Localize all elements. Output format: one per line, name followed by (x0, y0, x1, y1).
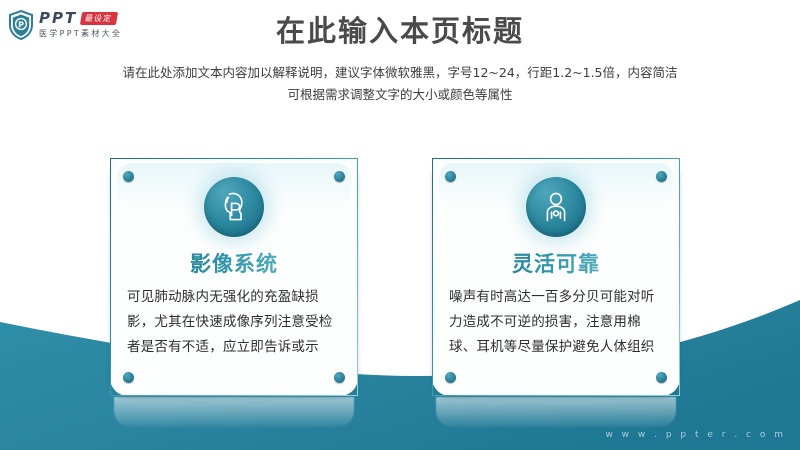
slide-canvas: P PPT 最设定 医学PPT素材大全 在此输入本页标题 请在此处添加文本内容加… (0, 0, 800, 450)
corner-dot-top-right (334, 171, 345, 182)
subtitle-line-2: 可根据需求调整文字的大小或颜色等属性 (0, 84, 800, 106)
content-card-1[interactable]: 影像系统 可见肺动脉内无强化的充盈缺损影，尤其在快速成像序列注意受检者是否有不适… (110, 158, 358, 396)
page-title: 在此输入本页标题 (0, 14, 800, 48)
site-watermark: w w w . p p t e r . c o m (605, 430, 786, 440)
corner-dot-bottom-right (334, 372, 345, 383)
person-organ-icon (526, 177, 586, 237)
card-reflection-left (114, 397, 354, 427)
corner-dot-bottom-right (656, 372, 667, 383)
card-title: 灵活可靠 (433, 251, 679, 277)
corner-dot-top-right (656, 171, 667, 182)
page-subtitle: 请在此处添加文本内容加以解释说明，建议字体微软雅黑，字号12~24，行距1.2~… (0, 62, 800, 106)
subtitle-line-1: 请在此处添加文本内容加以解释说明，建议字体微软雅黑，字号12~24，行距1.2~… (0, 62, 800, 84)
card-reflection-right (436, 397, 676, 427)
corner-dot-bottom-left (445, 372, 456, 383)
corner-dot-top-left (445, 171, 456, 182)
corner-dot-top-left (123, 171, 134, 182)
content-card-2[interactable]: 灵活可靠 噪声有时高达一百多分贝可能对听力造成不可逆的损害，注意用棉球、耳机等尽… (432, 158, 680, 396)
corner-dot-bottom-left (123, 372, 134, 383)
head-anatomy-icon (204, 177, 264, 237)
card-title: 影像系统 (111, 251, 357, 277)
card-body: 噪声有时高达一百多分贝可能对听力造成不可逆的损害，注意用棉球、耳机等尽量保护避免… (449, 285, 663, 360)
card-body: 可见肺动脉内无强化的充盈缺损影，尤其在快速成像序列注意受检者是否有不适，应立即告… (127, 285, 341, 360)
